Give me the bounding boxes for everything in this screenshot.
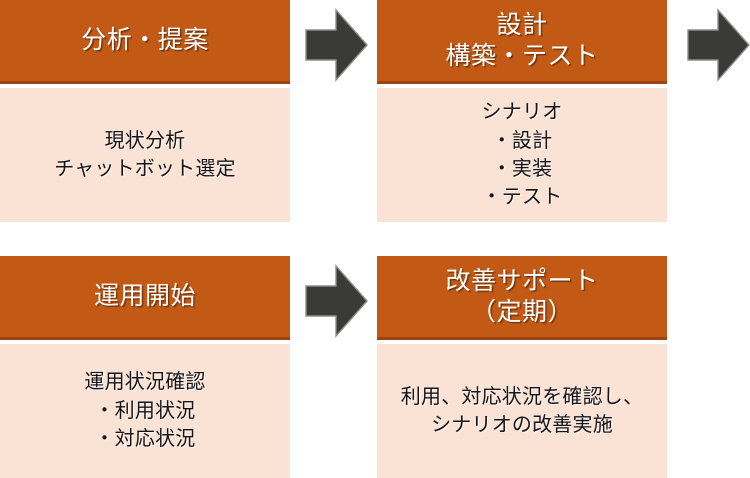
step-4-header: 改善サポート （定期）: [377, 256, 667, 340]
step-1-body: 現状分析 チャットボット選定: [0, 88, 290, 222]
step-3-body-label: 運用状況確認 ・利用状況 ・対応状況: [84, 368, 205, 453]
step-3-body: 運用状況確認 ・利用状況 ・対応状況: [0, 344, 290, 478]
step-4-body: 利用、対応状況を確認し、 シナリオの改善実施: [377, 344, 667, 478]
right-arrow-icon: [684, 8, 750, 82]
step-1-header: 分析・提案: [0, 0, 290, 84]
right-arrow-icon: [302, 264, 370, 338]
right-arrow-icon: [302, 8, 370, 82]
step-4-header-label: 改善サポート （定期）: [445, 266, 598, 327]
step-4-body-label: 利用、対応状況を確認し、 シナリオの改善実施: [401, 383, 643, 440]
step-1-body-label: 現状分析 チャットボット選定: [54, 127, 236, 184]
process-step-1[interactable]: 分析・提案 現状分析 チャットボット選定: [0, 0, 290, 222]
process-step-2[interactable]: 設計 構築・テスト シナリオ ・設計 ・実装 ・テスト: [377, 0, 667, 222]
step-1-header-label: 分析・提案: [81, 25, 209, 56]
process-flow-diagram: 分析・提案 現状分析 チャットボット選定 設計 構築・テスト シナリオ ・設計 …: [0, 0, 750, 478]
step-2-body-label: シナリオ ・設計 ・実装 ・テスト: [482, 98, 563, 212]
step-3-header: 運用開始: [0, 256, 290, 340]
step-2-header-label: 設計 構築・テスト: [445, 10, 598, 71]
step-3-header-label: 運用開始: [94, 281, 196, 312]
step-2-header: 設計 構築・テスト: [377, 0, 667, 84]
step-2-body: シナリオ ・設計 ・実装 ・テスト: [377, 88, 667, 222]
process-step-4[interactable]: 改善サポート （定期） 利用、対応状況を確認し、 シナリオの改善実施: [377, 256, 667, 478]
process-step-3[interactable]: 運用開始 運用状況確認 ・利用状況 ・対応状況: [0, 256, 290, 478]
